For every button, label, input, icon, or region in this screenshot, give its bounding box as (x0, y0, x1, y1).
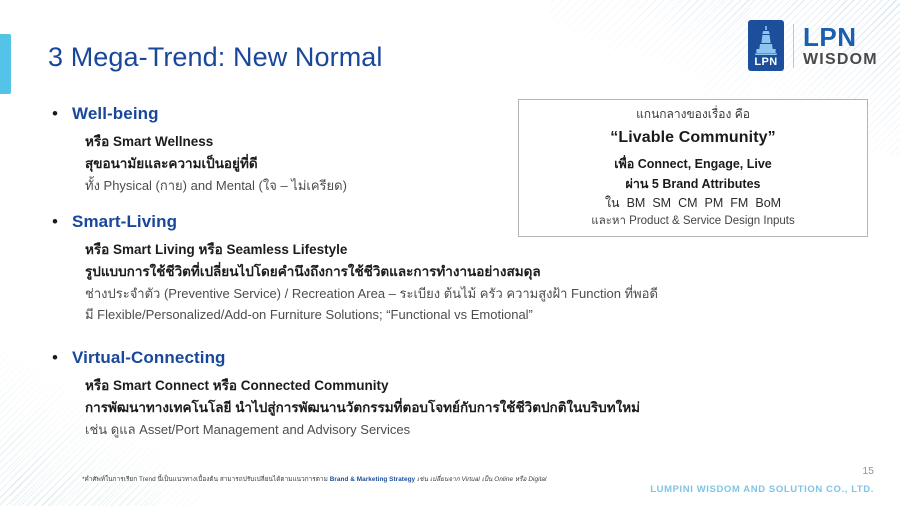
livable-community-callout-box: แกนกลางของเรื่อง คือ “Livable Community”… (518, 99, 868, 237)
logo-wordmark: LPN WISDOM (803, 24, 878, 68)
bullet-block-well-being: • Well-being หรือ Smart Wellness สุขอนาม… (52, 104, 347, 196)
page-title: 3 Mega-Trend: New Normal (48, 42, 383, 73)
bullet-heading-smart-living: Smart-Living (72, 212, 177, 232)
bullet-dot-icon: • (52, 349, 60, 366)
callout-brand-bm: BM (627, 194, 646, 213)
callout-brands-prefix: ใน (605, 194, 620, 213)
bullet-heading-virtual-connecting: Virtual-Connecting (72, 348, 226, 368)
callout-brand-bom: BoM (755, 194, 781, 213)
callout-brand-pm: PM (705, 194, 724, 213)
bullet-line: หรือ Smart Connect หรือ Connected Commun… (85, 375, 640, 397)
bullet-block-virtual-connecting: • Virtual-Connecting หรือ Smart Connect … (52, 348, 640, 440)
left-accent-bar (0, 34, 11, 94)
bullet-line: หรือ Smart Living หรือ Seamless Lifestyl… (85, 239, 658, 261)
lpn-logo-mark: LPN (748, 20, 784, 71)
bullet-line: สุขอนามัยและความเป็นอยู่ที่ดี (85, 153, 347, 175)
bullet-line: มี Flexible/Personalized/Add-on Furnitur… (85, 304, 658, 325)
bullet-lines-virtual-connecting: หรือ Smart Connect หรือ Connected Commun… (85, 375, 640, 440)
callout-intro-line: แกนกลางของเรื่อง คือ (636, 105, 750, 124)
company-footer: LUMPINI WISDOM AND SOLUTION CO., LTD. (650, 484, 874, 495)
bullet-dot-icon: • (52, 105, 60, 122)
callout-brand-sm: SM (652, 194, 671, 213)
slide-canvas: 3 Mega-Trend: New Normal LPN (0, 0, 900, 506)
callout-headline: “Livable Community” (610, 126, 775, 151)
bullet-line: ทั้ง Physical (กาย) and Mental (ใจ – ไม่… (85, 175, 347, 196)
diagonal-hatch-top-right-secondary-decoration (550, 0, 750, 110)
tower-building-icon (753, 25, 779, 62)
bullet-lines-well-being: หรือ Smart Wellness สุขอนามัยและความเป็น… (85, 131, 347, 196)
callout-brand-attributes-row: ใน BM SM CM PM FM BoM (605, 194, 781, 213)
bullet-line: เช่น ดูแล Asset/Port Management and Advi… (85, 419, 640, 440)
footnote: *คำศัพท์ในการเรียก Trend นี้เป็นแนวทางเบ… (82, 474, 546, 484)
bullet-line: การพัฒนาทางเทคโนโลยี นำไปสู่การพัฒนานวัต… (85, 397, 640, 419)
footnote-part-3: เช่น เปลี่ยนจาก Virtual เป็น Online หรือ… (415, 476, 546, 483)
lpn-wisdom-logo: LPN LPN WISDOM (748, 20, 878, 71)
page-number: 15 (862, 465, 874, 477)
bullet-heading-well-being: Well-being (72, 104, 159, 124)
callout-connect-line: เพื่อ Connect, Engage, Live (614, 155, 772, 174)
callout-attributes-line: ผ่าน 5 Brand Attributes (626, 175, 761, 194)
bullet-lines-smart-living: หรือ Smart Living หรือ Seamless Lifestyl… (85, 239, 658, 325)
callout-design-inputs-line: และหา Product & Service Design Inputs (591, 213, 794, 231)
logo-brand-text: LPN (803, 24, 878, 50)
bullet-line: รูปแบบการใช้ชีวิตที่เปลี่ยนไปโดยคำนึงถึง… (85, 261, 658, 283)
callout-brand-fm: FM (730, 194, 748, 213)
bullet-line: ช่างประจำตัว (Preventive Service) / Recr… (85, 283, 658, 304)
bullet-heading-row: • Virtual-Connecting (52, 348, 640, 368)
bullet-dot-icon: • (52, 213, 60, 230)
bullet-line: หรือ Smart Wellness (85, 131, 347, 153)
callout-brand-cm: CM (678, 194, 697, 213)
logo-divider (793, 24, 794, 68)
footnote-strategy-highlight: Brand & Marketing Strategy (330, 476, 415, 483)
bullet-heading-row: • Well-being (52, 104, 347, 124)
footnote-part-1: *คำศัพท์ในการเรียก Trend นี้เป็นแนวทางเบ… (82, 476, 330, 483)
logo-subbrand-text: WISDOM (803, 52, 878, 68)
